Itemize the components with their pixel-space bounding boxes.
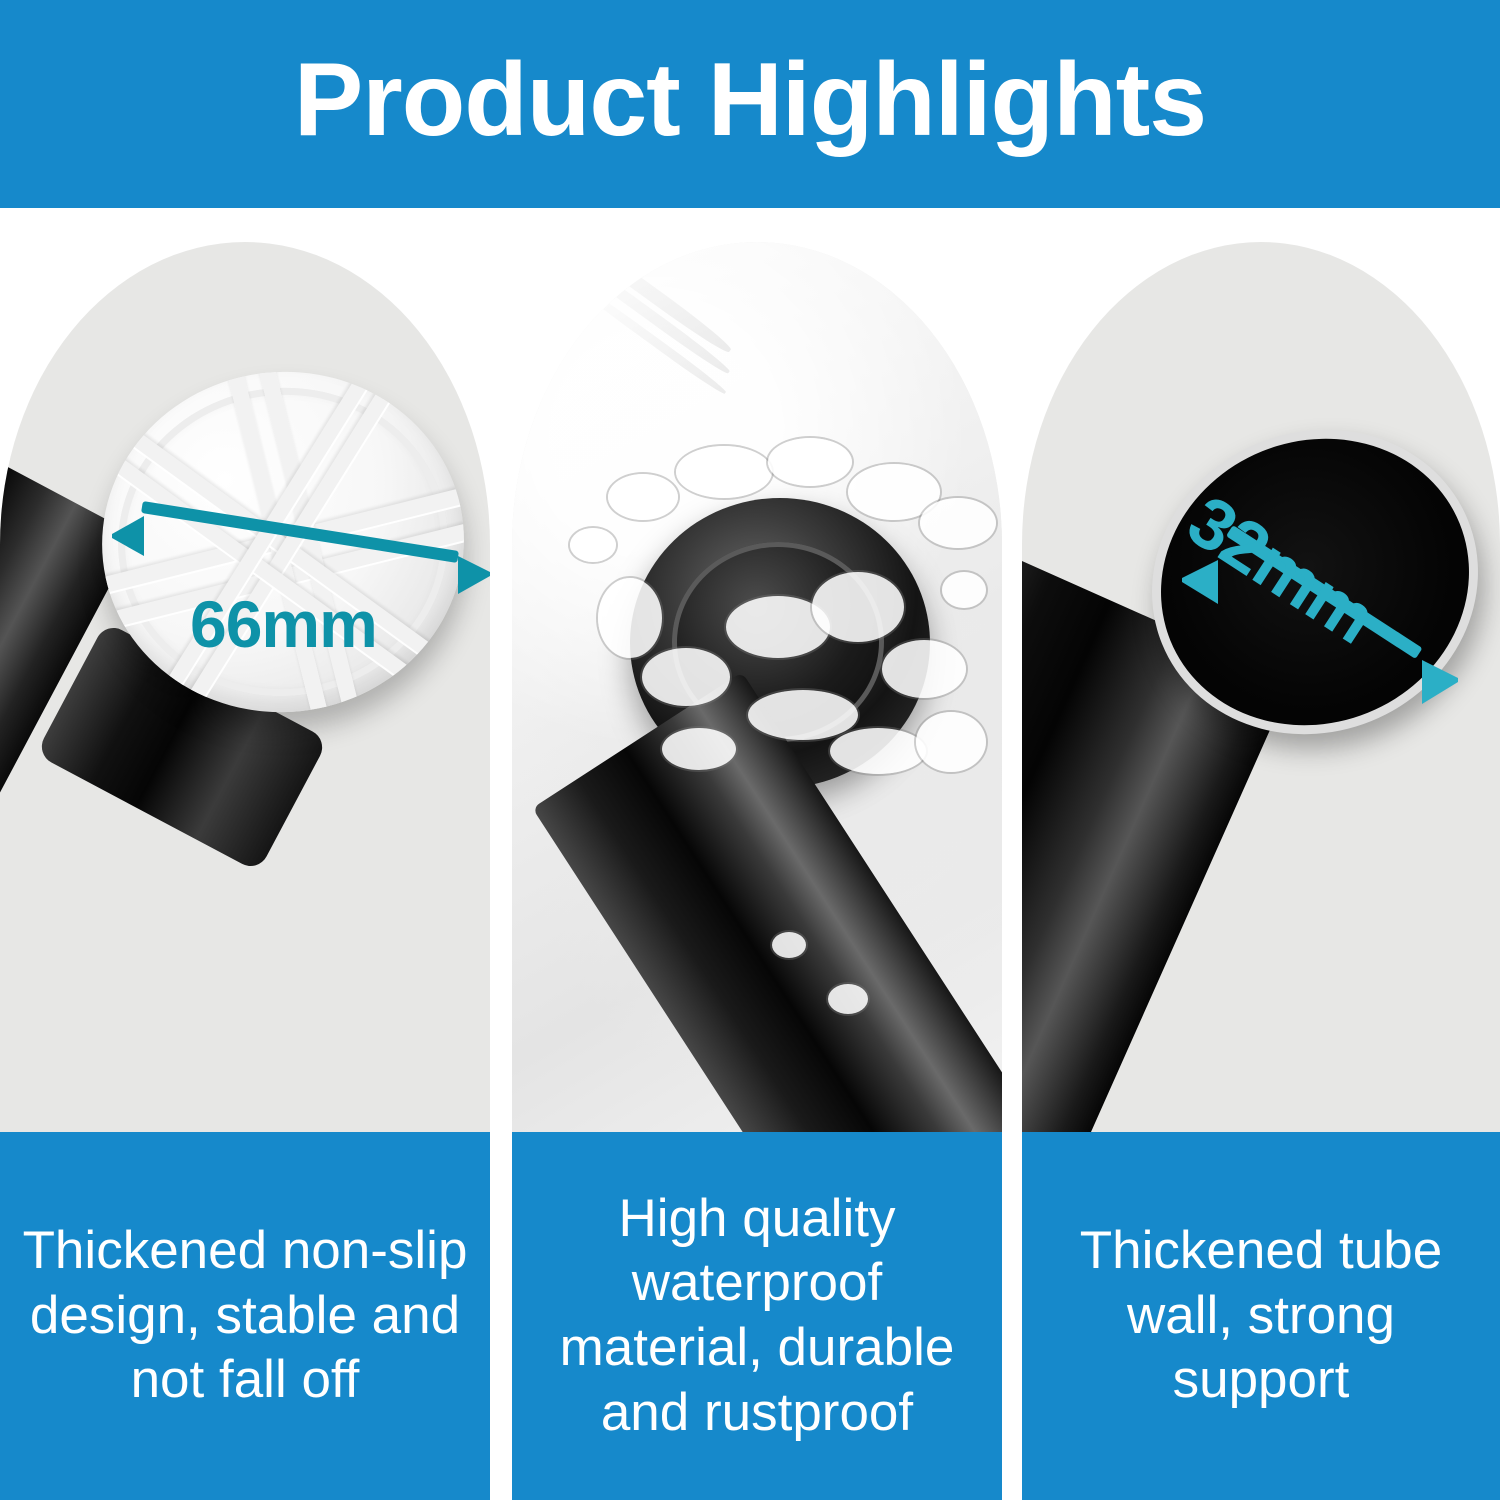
water-splash — [608, 474, 678, 520]
header-banner: Product Highlights — [0, 0, 1500, 208]
panel-2-caption: High quality waterproof material, durabl… — [512, 1132, 1002, 1500]
water-splash — [882, 640, 966, 698]
water-splash — [598, 578, 662, 658]
panel-1-photo: 66mm — [0, 210, 490, 1132]
page-title: Product Highlights — [294, 48, 1206, 152]
highlight-panel-tube-wall: 32mm Thickened tube wall, strong support — [1022, 210, 1500, 1500]
water-splash — [748, 690, 858, 740]
water-droplet — [828, 984, 868, 1014]
water-splash — [812, 572, 904, 642]
panel-1-photo-stage: 66mm — [0, 242, 490, 1132]
water-splash — [920, 498, 996, 548]
highlight-panel-non-slip-cap: 66mm Thickened non-slip design, stable a… — [0, 210, 490, 1500]
panel-2-photo — [512, 210, 1002, 1132]
water-droplet — [772, 932, 806, 958]
panel-3-caption-text: Thickened tube wall, strong support — [1080, 1219, 1442, 1413]
panel-3-photo: 32mm — [1022, 210, 1500, 1132]
water-splash — [830, 728, 926, 774]
panel-3-caption: Thickened tube wall, strong support — [1022, 1132, 1500, 1500]
dimension-arrow-66mm — [110, 478, 490, 598]
water-splash — [662, 728, 736, 770]
water-splash — [768, 438, 852, 486]
water-splash — [676, 446, 772, 498]
highlight-panel-waterproof: High quality waterproof material, durabl… — [512, 210, 1002, 1500]
water-droplet — [942, 572, 986, 608]
panel-1-caption-text: Thickened non-slip design, stable and no… — [23, 1219, 468, 1413]
dimension-label-66mm: 66mm — [190, 586, 377, 662]
water-splash — [916, 712, 986, 772]
panel-2-photo-stage — [512, 242, 1002, 1132]
panel-1-caption: Thickened non-slip design, stable and no… — [0, 1132, 490, 1500]
panel-2-caption-text: High quality waterproof material, durabl… — [560, 1187, 955, 1446]
panel-3-photo-stage: 32mm — [1022, 242, 1500, 1132]
water-droplet — [570, 528, 616, 562]
water-splash — [642, 648, 730, 706]
product-highlights-infographic: Product Highlights — [0, 0, 1500, 1500]
